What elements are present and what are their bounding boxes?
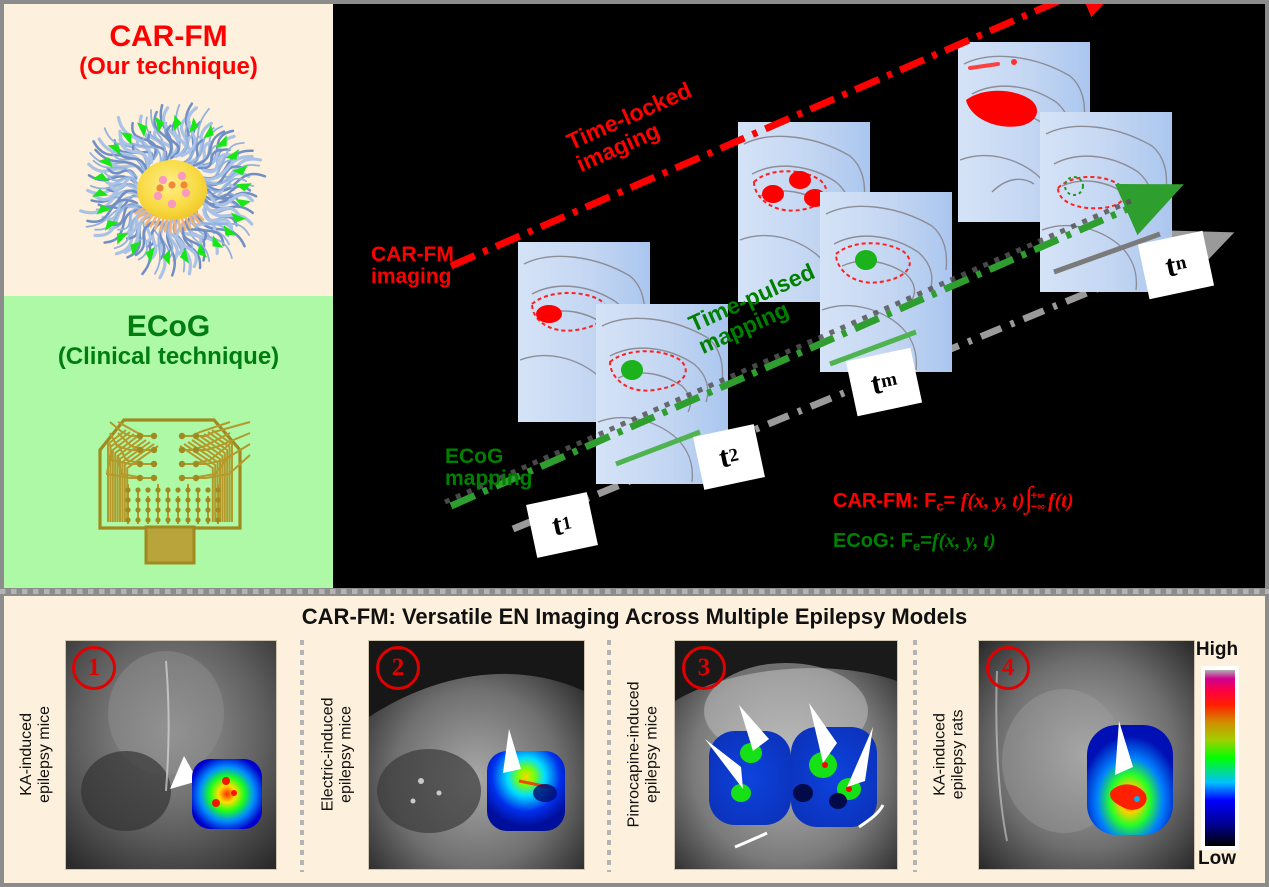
bottom-panel-title: CAR-FM: Versatile EN Imaging Across Mult… (4, 604, 1265, 630)
carfm-title-line2: (Our technique) (4, 54, 333, 81)
nanoparticle-icon (68, 92, 278, 292)
result-label-1-line1: KA-induced (18, 713, 35, 796)
carfm-title: CAR-FM (Our technique) (4, 20, 333, 80)
result-label-4-line2: epilepsy rats (950, 709, 967, 799)
bottom-panel: CAR-FM: Versatile EN Imaging Across Mult… (4, 596, 1265, 883)
colorbar: High Low (1179, 640, 1255, 868)
result-label-4-line1: KA-induced (932, 713, 949, 796)
timepoint-sub-m: m (879, 369, 899, 394)
panel-carfm: CAR-FM (Our technique) (4, 4, 333, 296)
ecog-electrode-array-icon (62, 388, 277, 578)
divider-top (0, 589, 1269, 594)
left-column: CAR-FM (Our technique) (4, 4, 333, 588)
carfm-formula-tail-args: (t) (1055, 490, 1074, 512)
ecog-formula-prefix: ECoG: F (833, 530, 913, 552)
result-label-3-line2: epilepsy mice (644, 706, 661, 803)
result-cell-3: Pinrocapine-inducedepilepsy mice (618, 640, 908, 868)
result-cell-1: KA-inducedepilepsy mice (10, 640, 295, 868)
carfm-formula-sub: c (936, 499, 943, 514)
carfm-formula-prefix: CAR-FM: F (833, 490, 936, 512)
result-label-1: KA-inducedepilepsy mice (10, 640, 62, 868)
figure-root: CAR-FM (Our technique) (0, 0, 1269, 887)
carfm-formula-lower: −∞ (1031, 502, 1045, 513)
colorbar-high-label: High (1179, 639, 1255, 661)
colorbar-low-label: Low (1179, 848, 1255, 870)
ecog-formula-eq: = (920, 530, 932, 552)
label-ecog-mapping: ECoG mapping (445, 446, 533, 490)
ecog-formula: ECoG: Fe=f(x, y, t) (833, 530, 996, 554)
result-label-2: Electric-inducedepilepsy mice (312, 640, 364, 868)
result-label-3-line1: Pinrocapine-induced (626, 681, 643, 827)
result-badge-2: 2 (376, 646, 420, 690)
ecog-formula-fn: f (932, 530, 939, 552)
label-carfm-imaging: CAR-FM imaging (371, 244, 454, 288)
result-label-3: Pinrocapine-inducedepilepsy mice (618, 640, 670, 868)
carfm-formula-eq: = (944, 490, 961, 512)
result-badge-1: 1 (72, 646, 116, 690)
result-badge-3: 3 (682, 646, 726, 690)
carfm-formula-tail-fn: f (1048, 490, 1055, 512)
carfm-formula: CAR-FM: Fc= f(x, y, t)∫ +∞ −∞ f(t) (833, 490, 1074, 514)
result-label-2-line2: epilepsy mice (338, 706, 355, 803)
result-badge-4: 4 (986, 646, 1030, 690)
result-label-1-line2: epilepsy mice (36, 706, 53, 803)
schematic-panel: CAR-FM imaging ECoG mapping Time-locked … (333, 4, 1265, 588)
carfm-formula-args: (x, y, t) (967, 490, 1024, 512)
colorbar-gradient (1201, 666, 1239, 850)
result-label-4: KA-inducedepilepsy rats (924, 640, 976, 868)
ecog-title-line2: (Clinical technique) (4, 344, 333, 371)
ecog-title-line1: ECoG (4, 310, 333, 344)
cell-divider-3 (913, 640, 917, 872)
carfm-title-line1: CAR-FM (4, 20, 333, 54)
result-label-2-line1: Electric-induced (320, 697, 337, 811)
ecog-title: ECoG (Clinical technique) (4, 310, 333, 370)
result-cell-2: Electric-inducedepilepsy mice (312, 640, 602, 868)
panel-ecog: ECoG (Clinical technique) (4, 296, 333, 588)
ecog-formula-args: (x, y, t) (939, 530, 996, 552)
result-cell-4: KA-inducedepilepsy rats (924, 640, 1184, 868)
cell-divider-2 (607, 640, 611, 872)
cell-divider-1 (300, 640, 304, 872)
